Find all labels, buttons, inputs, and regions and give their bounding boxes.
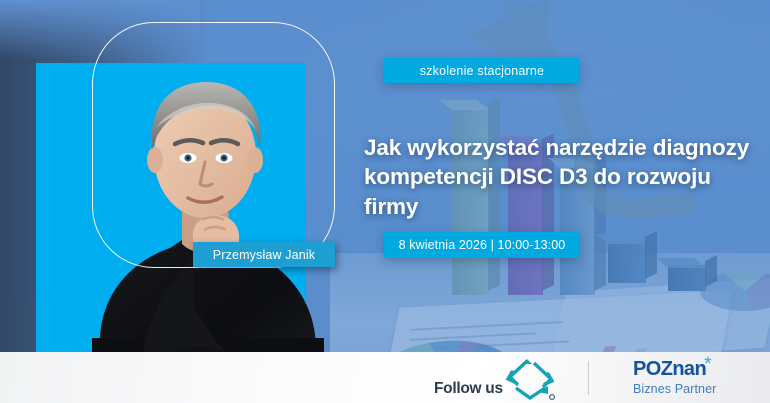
logo-follow-us[interactable]: Follow us [434,355,584,401]
poznan-wordmark: POZnan [633,359,706,379]
footer-logo-divider [588,361,589,395]
footer-logos: Follow us [356,352,770,403]
footer-bar: Follow us [0,352,770,403]
date-time-badge: 8 kwietnia 2026 | 10:00-13:00 [384,232,580,258]
asterisk-icon: * [704,355,711,374]
follow-us-label: Follow us [434,380,503,398]
speaker-name-badge: Przemysław Janik [193,242,335,267]
speaker-name-label: Przemysław Janik [213,248,315,262]
headline-line-2: kompetencji DISC D3 do rozwoju firmy [364,162,764,221]
recycle-arrows-icon [504,358,556,400]
webinar-banner: Przemysław Janik szkolenie stacjonarne J… [0,0,770,403]
date-time-label: 8 kwietnia 2026 | 10:00-13:00 [399,238,566,252]
poznan-subtitle: Biznes Partner [633,382,716,396]
page-title: Jak wykorzystać narzędzie diagnozy kompe… [364,133,764,221]
logo-poznan-biznes-partner[interactable]: POZnan * Biznes Partner [633,359,716,396]
headline-line-1: Jak wykorzystać narzędzie diagnozy [364,135,749,160]
training-type-label: szkolenie stacjonarne [420,64,544,78]
training-type-badge: szkolenie stacjonarne [384,58,580,83]
speaker-photo [78,8,334,403]
